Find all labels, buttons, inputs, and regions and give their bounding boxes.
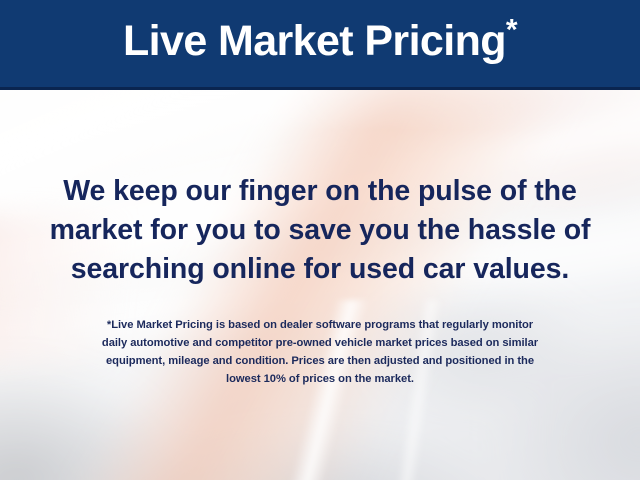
- headline-line-1: We keep our finger on the pulse of the: [24, 172, 616, 211]
- footnote-line-4: lowest 10% of prices on the market.: [24, 370, 616, 388]
- headline: We keep our finger on the pulse of the m…: [24, 172, 616, 289]
- headline-line-3: searching online for used car values.: [24, 250, 616, 289]
- page-title-asterisk: *: [506, 14, 517, 47]
- footnote-line-2: daily automotive and competitor pre-owne…: [24, 334, 616, 352]
- footnote-line-1: *Live Market Pricing is based on dealer …: [24, 316, 616, 334]
- footnote-line-3: equipment, mileage and condition. Prices…: [24, 352, 616, 370]
- page-title: Live Market Pricing*: [123, 20, 517, 67]
- live-market-pricing-slide: Live Market Pricing* We keep our finger …: [0, 0, 640, 480]
- footnote-disclaimer: *Live Market Pricing is based on dealer …: [24, 316, 616, 388]
- header-banner: Live Market Pricing*: [0, 0, 640, 90]
- headline-line-2: market for you to save you the hassle of: [24, 211, 616, 250]
- page-title-text: Live Market Pricing: [123, 17, 506, 65]
